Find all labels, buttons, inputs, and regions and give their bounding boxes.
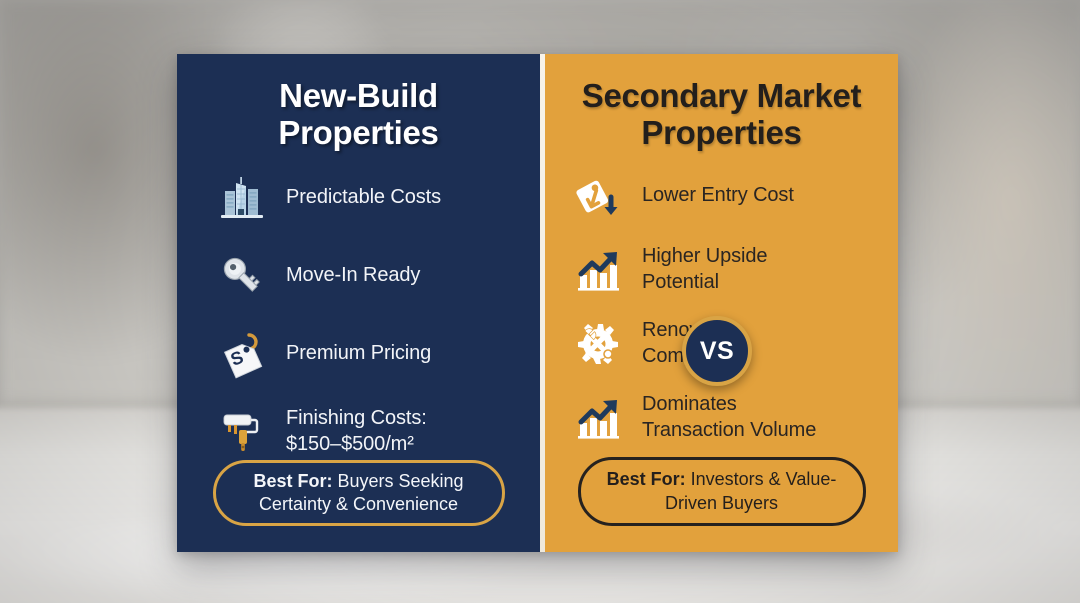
left-best-for-badge: Best For: Buyers Seeking Certainty & Con… — [213, 460, 505, 526]
key-icon — [214, 248, 270, 304]
best-for-prefix: Best For: — [607, 469, 686, 489]
comparison-card: New-Build Properties — [177, 54, 898, 552]
left-feature-list: Predictable Costs Mov — [180, 158, 537, 460]
price-tag-dollar-icon: S — [214, 326, 270, 382]
left-panel-title: New-Build Properties — [278, 78, 438, 152]
right-panel-title: Secondary Market Properties — [582, 78, 862, 152]
paint-roller-icon — [214, 404, 270, 460]
feature-label: Premium Pricing — [286, 341, 431, 367]
list-item: S Premium Pricing — [214, 326, 537, 382]
vs-badge: VS — [682, 316, 752, 386]
wrench-gear-icon — [570, 316, 626, 372]
bar-chart-up-arrow-icon — [570, 242, 626, 298]
feature-label: Higher Upside Potential — [642, 244, 767, 295]
list-item: Predictable Costs — [214, 170, 537, 226]
tag-down-arrow-icon — [570, 168, 626, 224]
list-item: Move-In Ready — [214, 248, 537, 304]
list-item: Higher Upside Potential — [570, 242, 891, 298]
best-for-value: Investors & Value-Driven Buyers — [665, 469, 836, 512]
new-build-panel: New-Build Properties — [177, 54, 540, 552]
office-building-icon — [214, 170, 270, 226]
best-for-prefix: Best For: — [253, 471, 332, 491]
list-item: Finishing Costs: $150–$500/m² — [214, 404, 537, 460]
feature-label: Lower Entry Cost — [642, 183, 794, 209]
feature-label: Predictable Costs — [286, 185, 441, 211]
feature-label: Move-In Ready — [286, 263, 420, 289]
right-best-for-badge: Best For: Investors & Value-Driven Buyer… — [578, 457, 866, 526]
list-item: Dominates Transaction Volume — [570, 390, 891, 446]
bar-chart-up-arrow-icon — [570, 390, 626, 446]
right-feature-list: Lower Entry Cost Higher Upside Potential — [552, 158, 891, 457]
feature-label: Finishing Costs: $150–$500/m² — [286, 406, 427, 457]
list-item: Lower Entry Cost — [570, 168, 891, 224]
feature-label: Dominates Transaction Volume — [642, 392, 816, 443]
secondary-market-panel: Secondary Market Properties — [545, 54, 898, 552]
